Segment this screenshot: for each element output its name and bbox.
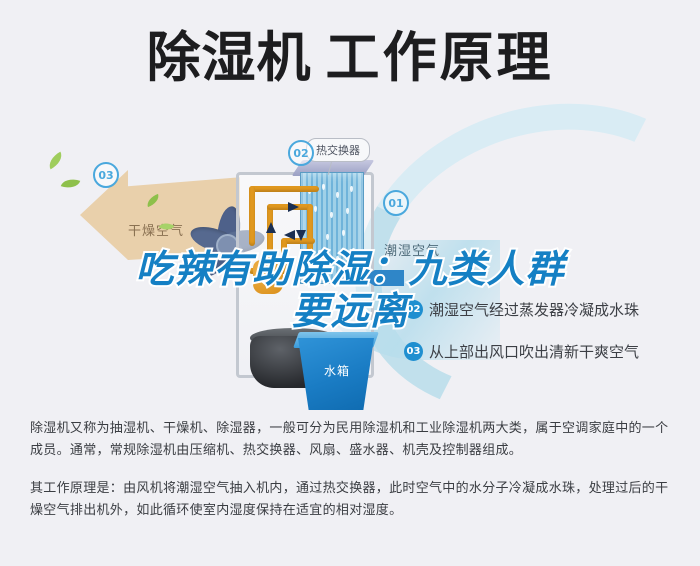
leaf-icon: [45, 152, 65, 170]
page-title: 除湿机工作原理: [0, 26, 700, 90]
step-text-02: 潮湿空气经过蒸发器冷凝成水珠: [429, 299, 639, 320]
diagram-badge-02: 02: [288, 140, 314, 166]
compressor-unit: [253, 260, 283, 294]
body-paragraph-1: 除湿机又称为抽湿机、干燥机、除湿器，一般可分为民用除湿机和工业除湿机两大类，属于…: [30, 418, 672, 462]
dry-air-label: 干燥空气: [128, 220, 184, 239]
step-line-03: 03 从上部出风口吹出清新干爽空气: [404, 341, 639, 362]
humid-air-label: 潮湿空气: [384, 240, 440, 259]
diagram-badge-01: 01: [383, 190, 409, 216]
flow-arrow-right-icon: [288, 202, 299, 212]
body-paragraph-2: 其工作原理是：由风机将潮湿空气抽入机内，通过热交换器，此时空气中的水分子冷凝成水…: [30, 478, 672, 522]
page-title-part1: 除湿机: [147, 26, 312, 90]
step-badge-03: 03: [404, 342, 423, 361]
flow-arrow-up-icon: [266, 222, 276, 233]
step-badge-02: 02: [404, 300, 423, 319]
diagram-badge-03: 03: [93, 162, 119, 188]
water-tank-label: 水箱: [324, 362, 350, 379]
flow-arrow-down-icon: [296, 230, 306, 241]
heat-exchanger-callout: 热交换器: [306, 138, 370, 162]
body-copy: 除湿机又称为抽湿机、干燥机、除湿器，一般可分为民用除湿机和工业除湿机两大类，属于…: [30, 418, 672, 522]
infographic-page: 除湿机工作原理 干燥空气: [0, 0, 700, 566]
page-title-part2: 工作原理: [326, 26, 554, 90]
flow-arrow-left-icon: [284, 230, 295, 240]
step-text-03: 从上部出风口吹出清新干爽空气: [429, 341, 639, 362]
leaf-icon: [61, 176, 81, 192]
step-line-02: 02 潮湿空气经过蒸发器冷凝成水珠: [404, 299, 639, 320]
